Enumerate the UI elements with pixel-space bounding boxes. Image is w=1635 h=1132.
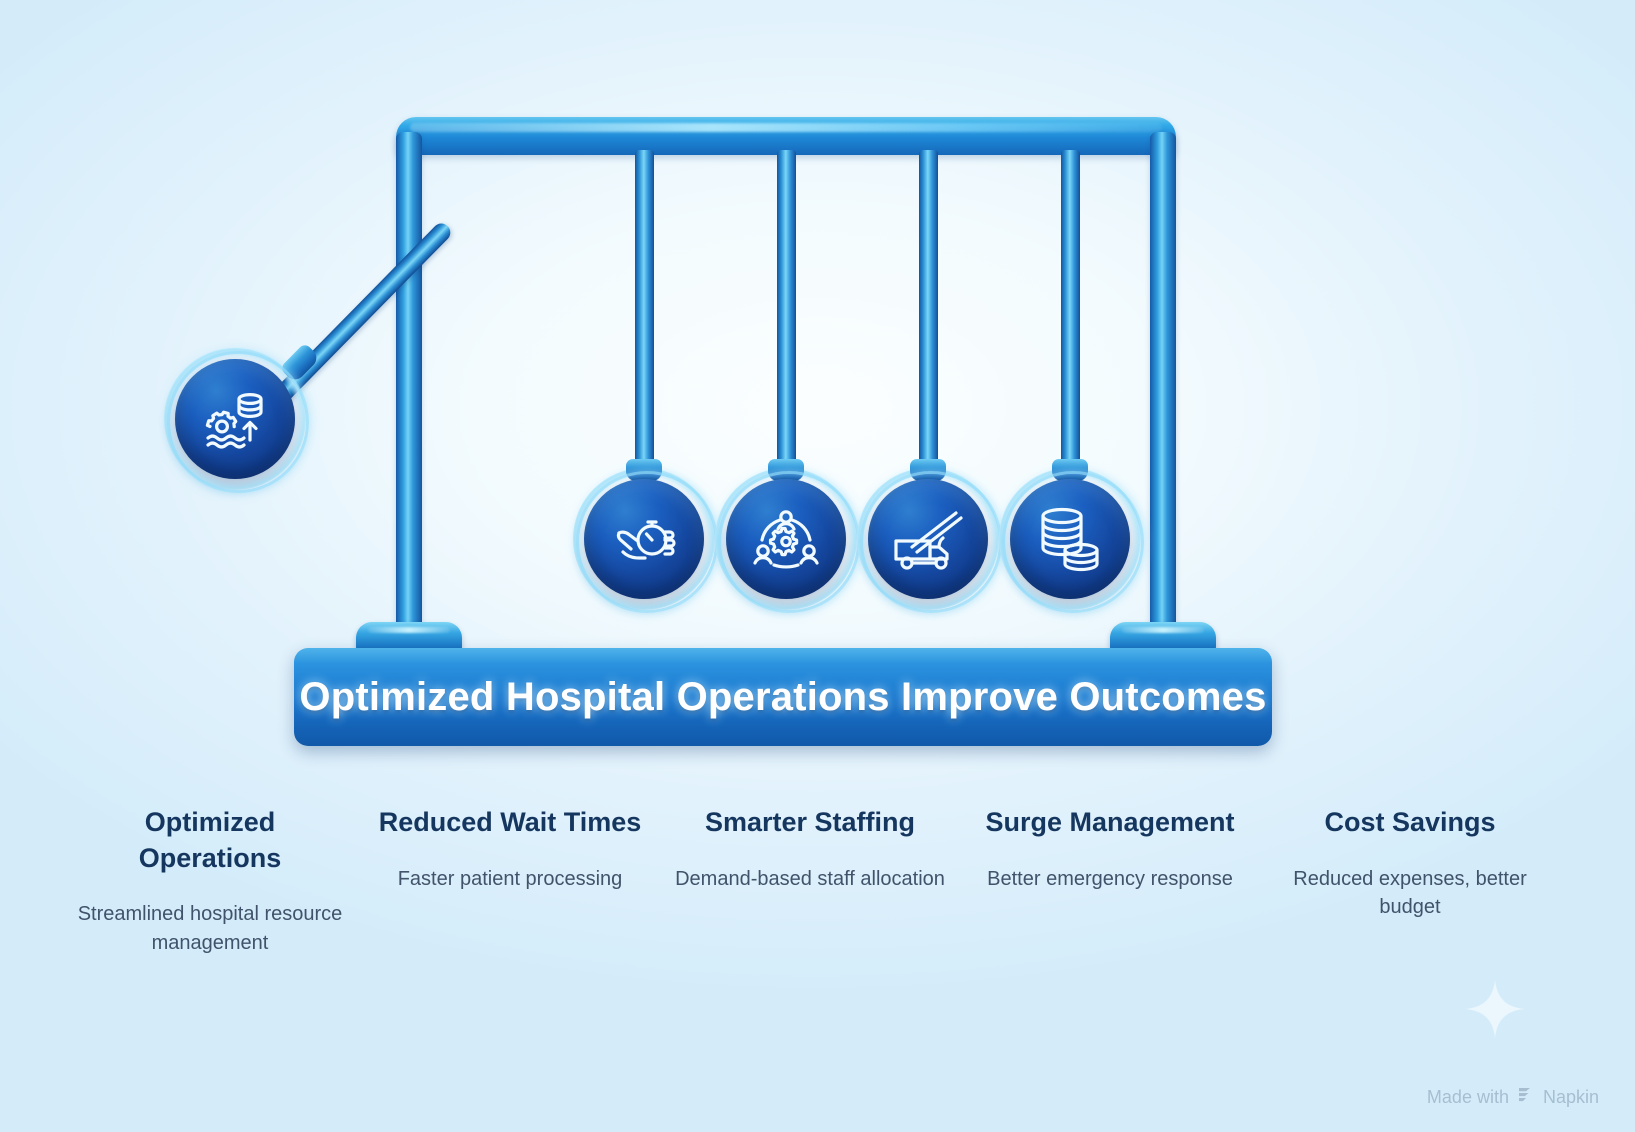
legend-item-cost-savings: Cost Savings Reduced expenses, better bu… [1260, 805, 1560, 921]
watermark: Made with Napkin [1427, 1085, 1599, 1110]
legend-item-surge-management: Surge Management Better emergency respon… [960, 805, 1260, 893]
legend-title: Smarter Staffing [670, 805, 950, 841]
watermark-prefix: Made with [1427, 1087, 1509, 1108]
cradle-ball-optimized-operations[interactable] [164, 348, 306, 490]
legend-item-smarter-staffing: Smarter Staffing Demand-based staff allo… [660, 805, 960, 893]
legend-item-reduced-wait-times: Reduced Wait Times Faster patient proces… [360, 805, 660, 893]
people-gear-network-icon [715, 468, 857, 610]
main-banner: Optimized Hospital Operations Improve Ou… [294, 648, 1272, 746]
legend-title: Reduced Wait Times [370, 805, 650, 841]
legend-description: Better emergency response [970, 865, 1250, 893]
newtons-cradle-illustration: Optimized Hospital Operations Improve Ou… [0, 0, 1635, 1132]
coin-stacks-icon [999, 468, 1141, 610]
legend-row: Optimized Operations Streamlined hospita… [60, 805, 1560, 957]
cradle-ball-surge-management[interactable] [857, 468, 999, 610]
watermark-brand: Napkin [1543, 1087, 1599, 1108]
cradle-wire-4 [919, 150, 938, 480]
cradle-right-leg [1150, 132, 1176, 648]
cradle-ball-reduced-wait-times[interactable] [573, 468, 715, 610]
napkin-logo-icon [1516, 1085, 1536, 1110]
banner-title: Optimized Hospital Operations Improve Ou… [299, 675, 1266, 720]
cradle-wire-2 [635, 150, 654, 480]
legend-description: Faster patient processing [370, 865, 650, 893]
legend-title: Optimized Operations [70, 805, 350, 876]
legend-item-optimized-operations: Optimized Operations Streamlined hospita… [60, 805, 360, 957]
emergency-truck-ladder-icon [857, 468, 999, 610]
sparkle-icon [1464, 978, 1526, 1040]
diagram-canvas: Optimized Hospital Operations Improve Ou… [0, 0, 1635, 1132]
legend-description: Streamlined hospital resource management [70, 900, 350, 957]
cradle-wire-3 [777, 150, 796, 480]
legend-description: Reduced expenses, better budget [1270, 865, 1550, 922]
cradle-left-leg [396, 132, 422, 648]
legend-description: Demand-based staff allocation [670, 865, 950, 893]
legend-title: Cost Savings [1270, 805, 1550, 841]
hand-stopwatch-icon [573, 468, 715, 610]
legend-title: Surge Management [970, 805, 1250, 841]
cradle-ball-cost-savings[interactable] [999, 468, 1141, 610]
gear-database-arrow-icon [164, 348, 306, 490]
cradle-wire-5 [1061, 150, 1080, 480]
cradle-ball-smarter-staffing[interactable] [715, 468, 857, 610]
